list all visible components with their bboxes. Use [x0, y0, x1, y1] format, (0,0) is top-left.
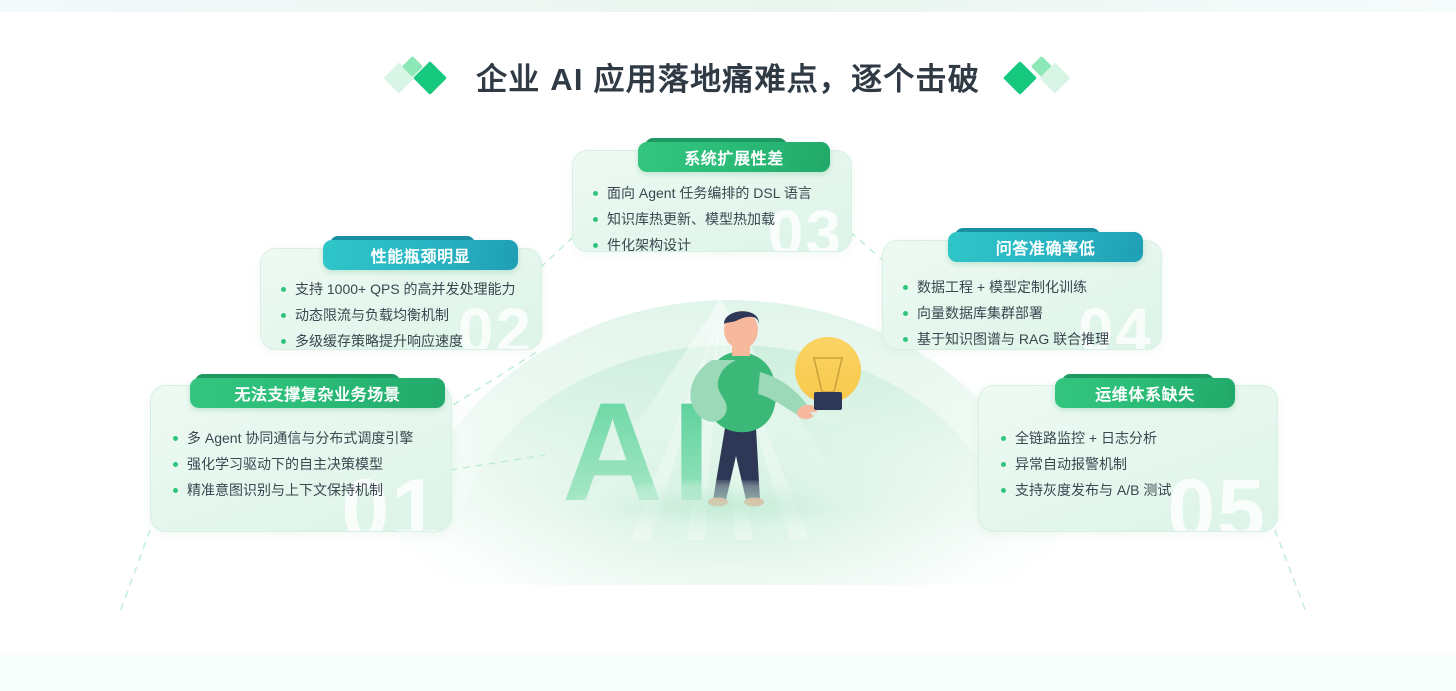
card-01-badge[interactable]: 无法支撑复杂业务场景	[190, 378, 445, 408]
diamond-cluster-right-icon	[1006, 56, 1068, 96]
card-03-badge[interactable]: 系统扩展性差	[638, 142, 830, 172]
page-title-row: 企业 AI 应用落地痛难点，逐个击破	[0, 52, 1456, 100]
list-item: 动态限流与负载均衡机制	[281, 305, 516, 325]
list-item: 知识库热更新、模型热加载	[593, 209, 812, 229]
list-item: 面向 Agent 任务编排的 DSL 语言	[593, 183, 812, 203]
card-02-bullets: 支持 1000+ QPS 的高并发处理能力 动态限流与负载均衡机制 多级缓存策略…	[281, 279, 516, 350]
list-item: 强化学习驱动下的自主决策模型	[173, 454, 413, 474]
card-04-badge[interactable]: 问答准确率低	[948, 232, 1143, 262]
list-item: 全链路监控 + 日志分析	[1001, 428, 1171, 448]
list-item: 数据工程 + 模型定制化训练	[903, 277, 1109, 297]
diamond-cluster-left-icon	[388, 56, 450, 96]
list-item: 向量数据库集群部署	[903, 303, 1109, 323]
list-item: 精准意图识别与上下文保持机制	[173, 480, 413, 500]
card-04-bullets: 数据工程 + 模型定制化训练 向量数据库集群部署 基于知识图谱与 RAG 联合推…	[903, 277, 1109, 350]
infographic-canvas: 企业 AI 应用落地痛难点，逐个击破	[0, 0, 1456, 691]
illustration-ground-shadow	[570, 480, 880, 532]
bottom-edge-band	[0, 655, 1456, 691]
card-05-bullets: 全链路监控 + 日志分析 异常自动报警机制 支持灰度发布与 A/B 测试	[1001, 428, 1171, 506]
card-02-badge[interactable]: 性能瓶颈明显	[323, 240, 518, 270]
top-edge-band	[0, 0, 1456, 12]
card-03-bullets: 面向 Agent 任务编排的 DSL 语言 知识库热更新、模型热加载 件化架构设…	[593, 183, 812, 252]
list-item: 支持 1000+ QPS 的高并发处理能力	[281, 279, 516, 299]
list-item: 异常自动报警机制	[1001, 454, 1171, 474]
ai-illustration: A I	[560, 300, 890, 550]
list-item: 基于知识图谱与 RAG 联合推理	[903, 329, 1109, 349]
card-05-badge[interactable]: 运维体系缺失	[1055, 378, 1235, 408]
card-01-bullets: 多 Agent 协同通信与分布式调度引擎 强化学习驱动下的自主决策模型 精准意图…	[173, 428, 413, 506]
page-title: 企业 AI 应用落地痛难点，逐个击破	[476, 54, 980, 99]
list-item: 多 Agent 协同通信与分布式调度引擎	[173, 428, 413, 448]
list-item: 多级缓存策略提升响应速度	[281, 331, 516, 350]
card-05-watermark: 05	[1167, 467, 1267, 532]
list-item: 件化架构设计	[593, 235, 812, 252]
list-item: 支持灰度发布与 A/B 测试	[1001, 480, 1171, 500]
